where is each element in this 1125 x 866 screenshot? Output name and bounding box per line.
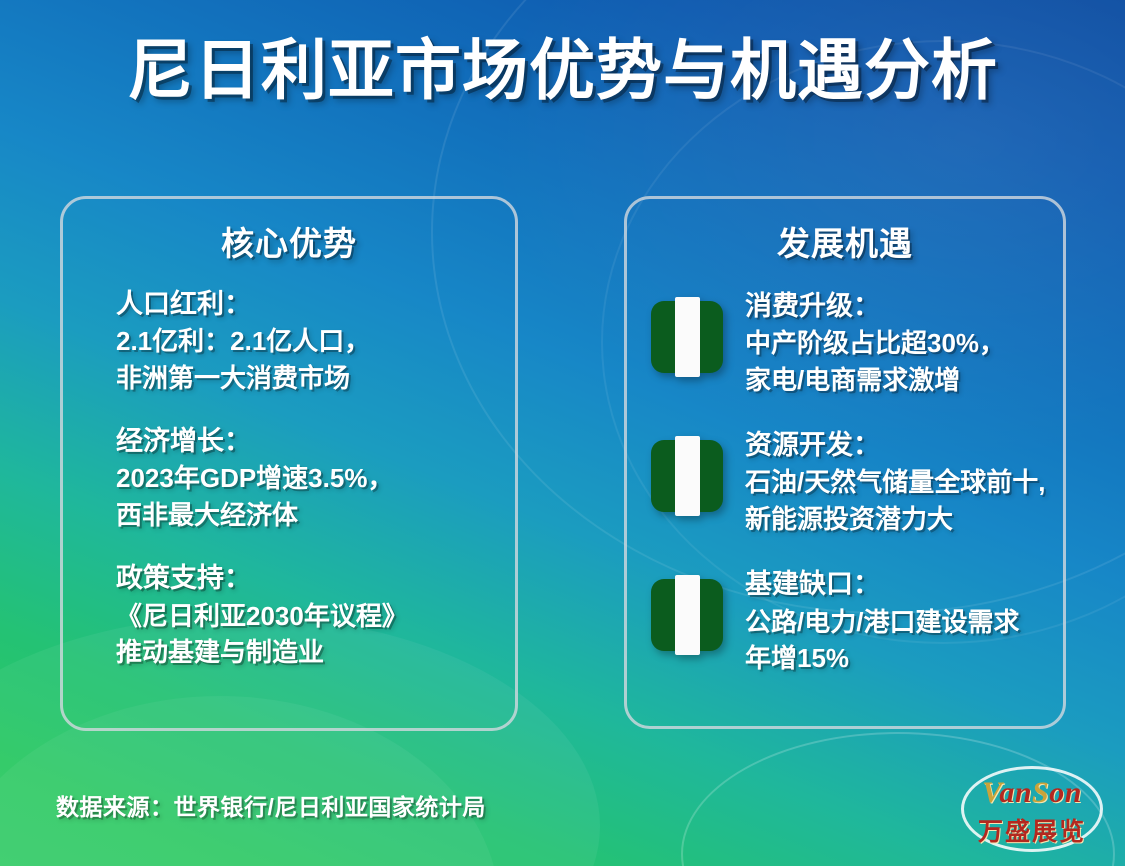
- item-body-line: 推动基建与制造业: [116, 634, 501, 670]
- item-heading: 资源开发：: [745, 426, 1057, 464]
- logo-letters-on: on: [1049, 776, 1082, 809]
- item-body-line: 公路/电力/港口建设需求: [745, 604, 1057, 640]
- development-opportunities-list: 消费升级： 中产阶级占比超30%， 家电/电商需求激增 资源开发： 石油/天然气…: [651, 287, 1057, 676]
- logo-letter-v: V: [982, 776, 999, 809]
- panel-right-heading: 发展机遇: [627, 217, 1063, 265]
- item-heading: 基建缺口：: [745, 565, 1057, 603]
- list-item: 经济增长： 2023年GDP增速3.5%， 西非最大经济体: [116, 422, 501, 533]
- logo-letter-s: S: [1032, 776, 1049, 809]
- logo-latin-text: VanSon: [957, 776, 1107, 810]
- list-item: 消费升级： 中产阶级占比超30%， 家电/电商需求激增: [651, 287, 1057, 398]
- panel-core-advantages: 核心优势 人口红利： 2.1亿利：2.1亿人口， 非洲第一大消费市场 经济增长：…: [60, 196, 518, 731]
- list-item: 资源开发： 石油/天然气储量全球前十, 新能源投资潜力大: [651, 426, 1057, 537]
- item-body-line: 2.1亿利：2.1亿人口，: [116, 323, 501, 359]
- item-body: 2023年GDP增速3.5%， 西非最大经济体: [116, 460, 501, 533]
- item-body-line: 非洲第一大消费市场: [116, 360, 501, 396]
- page-title: 尼日利亚市场优势与机遇分析: [0, 34, 1125, 108]
- item-body-line: 年增15%: [745, 640, 1057, 676]
- item-heading: 政策支持：: [116, 559, 501, 597]
- item-body-line: 《尼日利亚2030年议程》: [116, 598, 501, 634]
- item-body-line: 西非最大经济体: [116, 497, 501, 533]
- nigeria-flag-icon: [651, 440, 723, 512]
- item-text: 基建缺口： 公路/电力/港口建设需求 年增15%: [745, 565, 1057, 676]
- item-body: 2.1亿利：2.1亿人口， 非洲第一大消费市场: [116, 323, 501, 396]
- item-body-line: 中产阶级占比超30%，: [745, 325, 1057, 361]
- item-text: 消费升级： 中产阶级占比超30%， 家电/电商需求激增: [745, 287, 1057, 398]
- item-body-line: 新能源投资潜力大: [745, 501, 1057, 537]
- list-item: 基建缺口： 公路/电力/港口建设需求 年增15%: [651, 565, 1057, 676]
- item-body: 石油/天然气储量全球前十, 新能源投资潜力大: [745, 464, 1057, 537]
- item-body-line: 家电/电商需求激增: [745, 362, 1057, 398]
- item-body: 中产阶级占比超30%， 家电/电商需求激增: [745, 325, 1057, 398]
- item-body-line: 2023年GDP增速3.5%，: [116, 460, 501, 496]
- item-heading: 经济增长：: [116, 422, 501, 460]
- flag-white-stripe: [675, 436, 700, 516]
- flag-white-stripe: [675, 575, 700, 655]
- logo-chinese-text: 万盛展览: [957, 812, 1107, 848]
- nigeria-flag-icon: [651, 301, 723, 373]
- item-body: 公路/电力/港口建设需求 年增15%: [745, 604, 1057, 677]
- flag-white-stripe: [675, 297, 700, 377]
- item-heading: 人口红利：: [116, 285, 501, 323]
- core-advantages-list: 人口红利： 2.1亿利：2.1亿人口， 非洲第一大消费市场 经济增长： 2023…: [116, 285, 501, 670]
- item-text: 资源开发： 石油/天然气储量全球前十, 新能源投资潜力大: [745, 426, 1057, 537]
- panel-left-heading: 核心优势: [63, 217, 515, 265]
- nigeria-flag-icon: [651, 579, 723, 651]
- item-body: 《尼日利亚2030年议程》 推动基建与制造业: [116, 598, 501, 671]
- data-source-note: 数据来源：世界银行/尼日利亚国家统计局: [56, 788, 486, 822]
- list-item: 政策支持： 《尼日利亚2030年议程》 推动基建与制造业: [116, 559, 501, 670]
- item-body-line: 石油/天然气储量全球前十,: [745, 464, 1057, 500]
- panel-development-opportunities: 发展机遇 消费升级： 中产阶级占比超30%， 家电/电商需求激增: [624, 196, 1066, 729]
- brand-logo: VanSon 万盛展览: [957, 762, 1107, 856]
- item-heading: 消费升级：: [745, 287, 1057, 325]
- list-item: 人口红利： 2.1亿利：2.1亿人口， 非洲第一大消费市场: [116, 285, 501, 396]
- logo-letters-an: an: [999, 776, 1032, 809]
- slide-canvas: 尼日利亚市场优势与机遇分析 核心优势 人口红利： 2.1亿利：2.1亿人口， 非…: [0, 0, 1125, 866]
